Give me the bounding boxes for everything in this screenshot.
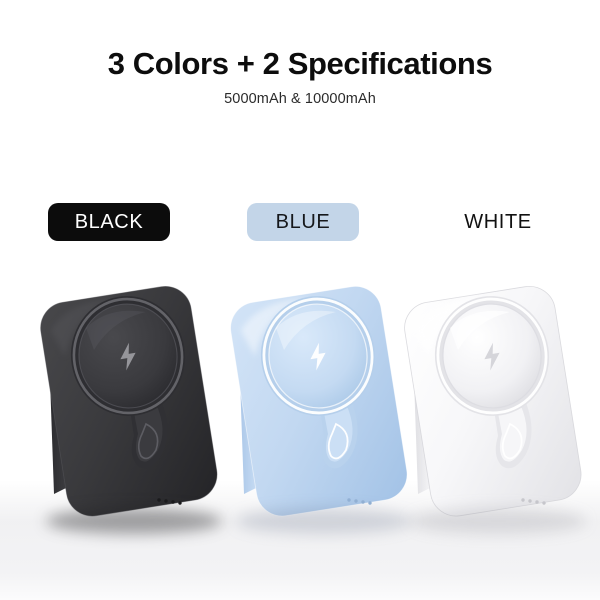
product-unit-white[interactable] (406, 278, 596, 528)
page-subtitle: 5000mAh & 10000mAh (0, 81, 600, 107)
product-unit-black[interactable] (42, 278, 232, 528)
product-image-canvas: 3 Colors + 2 Specifications 5000mAh & 10… (0, 0, 600, 600)
color-label-black[interactable]: BLACK (48, 203, 170, 241)
color-label-row: BLACK BLUE WHITE (0, 203, 600, 245)
color-label-blue[interactable]: BLUE (247, 203, 359, 241)
header: 3 Colors + 2 Specifications 5000mAh & 10… (0, 0, 600, 107)
product-unit-blue[interactable] (232, 278, 422, 528)
page-title: 3 Colors + 2 Specifications (0, 0, 600, 81)
color-label-white[interactable]: WHITE (437, 203, 559, 241)
